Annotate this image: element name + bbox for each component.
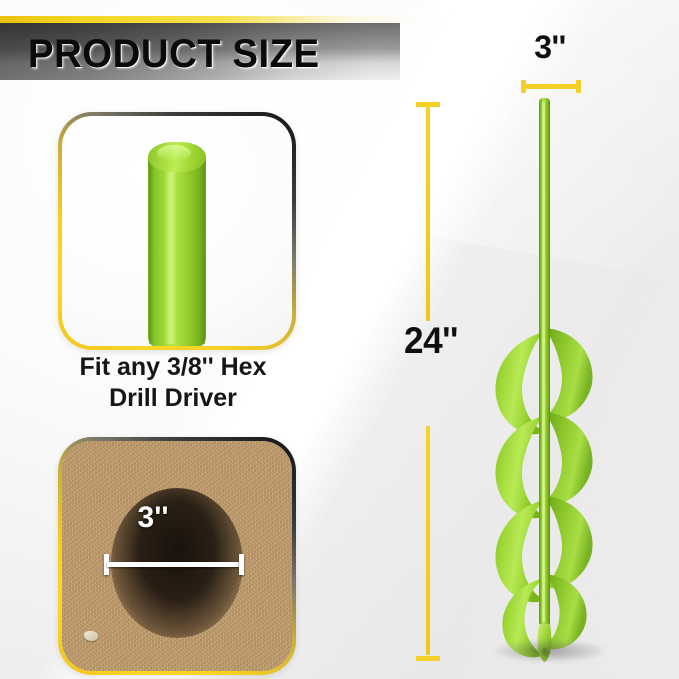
length-dimension-lower-segment (426, 426, 430, 655)
bracket-right-cap (239, 554, 244, 575)
auger-drill-bit-illustration (466, 96, 626, 664)
hex-shaft-top-face (148, 142, 206, 172)
page-title: PRODUCT SIZE (28, 32, 320, 77)
hole-diameter-bracket (104, 554, 244, 574)
auger-flight-back-2 (544, 412, 593, 504)
caption-line-2: Drill Driver (20, 383, 326, 414)
auger-flight-back-3 (544, 496, 593, 588)
auger-flight-back-1 (544, 328, 593, 420)
auger-drop-shadow (496, 640, 604, 662)
hole-diameter-label: 3'' (62, 501, 268, 535)
length-dimension-line (424, 98, 432, 663)
hex-shaft-left-edge (149, 158, 154, 344)
header-banner: PRODUCT SIZE (0, 16, 430, 82)
bracket-bar (107, 562, 241, 567)
length-dimension-upper-segment (426, 106, 430, 321)
header-yellow-accent-bar (0, 16, 420, 23)
drilled-hole-panel-inner: 3'' (62, 441, 292, 671)
hex-shaft-top-sheen (157, 145, 191, 161)
caption-line-1: Fit any 3/8'' Hex (20, 352, 326, 383)
hex-shaft-panel-inner (62, 116, 292, 346)
auger-shaft-highlight (542, 102, 545, 622)
length-dimension-bottom-cap (416, 656, 440, 661)
diameter-dimension-right-cap (576, 80, 581, 93)
diameter-dimension-label: 3'' (510, 29, 590, 66)
diameter-dimension-bar (523, 84, 579, 89)
length-dimension-label: 24'' (390, 320, 472, 362)
hex-shaft-illustration (148, 142, 206, 346)
auger-svg (466, 96, 626, 664)
drilled-hole-photo-panel: 3'' (58, 437, 296, 675)
hex-shaft-caption: Fit any 3/8'' Hex Drill Driver (20, 352, 326, 413)
hex-shaft-body (148, 156, 206, 346)
diameter-dimension-line (521, 80, 581, 94)
soil-pebble (84, 631, 98, 641)
hex-shaft-highlight (164, 160, 177, 344)
hex-shaft-right-edge (199, 158, 205, 344)
hex-shaft-panel (58, 112, 296, 350)
product-size-infographic: PRODUCT SIZE Fit any 3/8'' Hex Drill Dri… (0, 0, 679, 679)
